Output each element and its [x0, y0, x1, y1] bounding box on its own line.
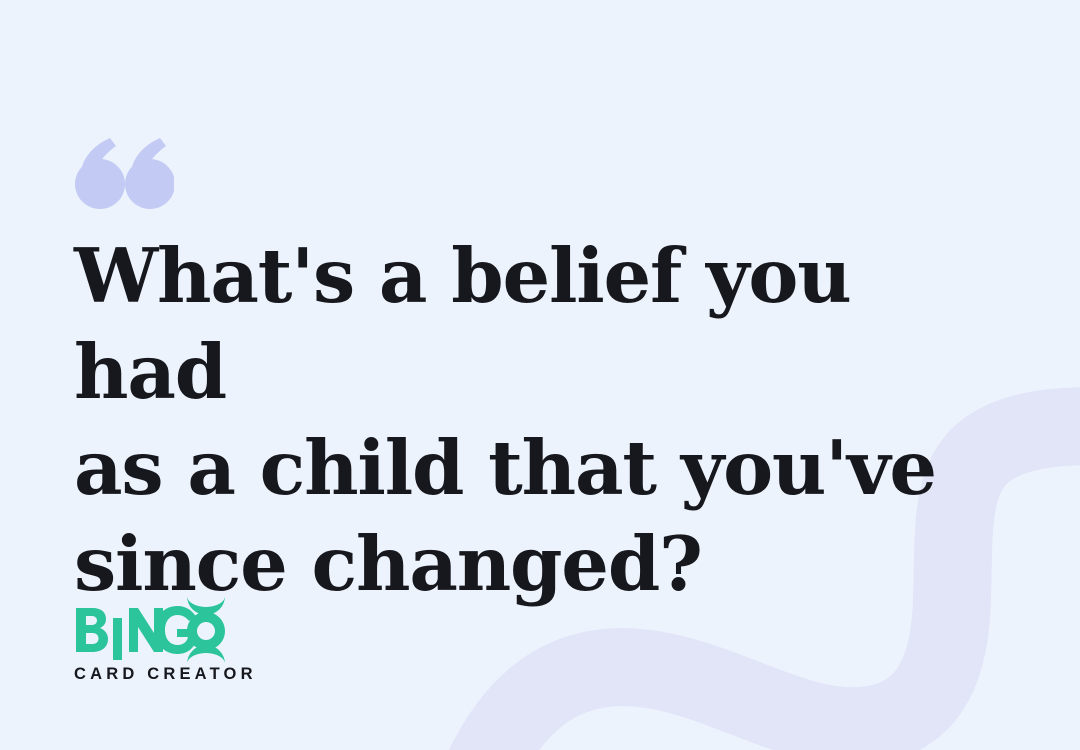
- quote-mark-icon: [74, 136, 174, 212]
- brand-tagline: CARD CREATOR: [74, 665, 257, 684]
- bingo-wordmark-icon: [74, 592, 228, 664]
- quote-text: What's a belief you had as a child that …: [74, 228, 974, 612]
- brand-logo[interactable]: CARD CREATOR: [74, 592, 257, 684]
- quote-card: What's a belief you had as a child that …: [0, 0, 1080, 750]
